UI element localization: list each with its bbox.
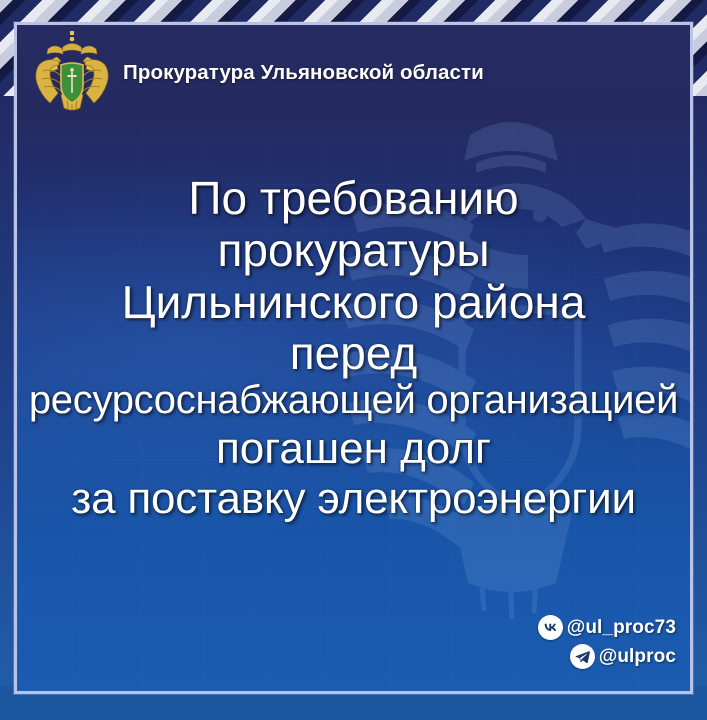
headline-line-3: Цильнинского района [17, 279, 690, 327]
russian-prosecution-eagle-emblem-icon [35, 31, 109, 115]
headline-line-6: погашен долг [17, 426, 690, 472]
headline-line-1: По требованию [17, 175, 690, 223]
header-bar: Прокуратура Ульяновской области [17, 25, 690, 121]
vk-icon [538, 615, 563, 640]
headline-line-5: ресурсоснабжающей организацией [17, 380, 690, 422]
social-handle-vk: @ul_proc73 [567, 617, 676, 639]
headline-block: По требованию прокуратуры Цильнинского р… [17, 175, 690, 521]
telegram-icon [570, 644, 595, 669]
headline-line-7: за поставку электроэнергии [17, 476, 690, 522]
headline-line-2: прокуратуры [17, 227, 690, 275]
social-link-telegram[interactable]: @ulproc [570, 644, 676, 669]
headline-line-4: перед [17, 330, 690, 378]
organization-title: Прокуратура Ульяновской области [123, 61, 484, 85]
poster-card: Прокуратура Ульяновской области По требо… [14, 22, 693, 694]
poster-canvas: Прокуратура Ульяновской области По требо… [0, 0, 707, 720]
social-link-vk[interactable]: @ul_proc73 [538, 615, 676, 640]
social-links: @ul_proc73 @ulproc [538, 615, 676, 669]
social-handle-telegram: @ulproc [599, 646, 676, 668]
